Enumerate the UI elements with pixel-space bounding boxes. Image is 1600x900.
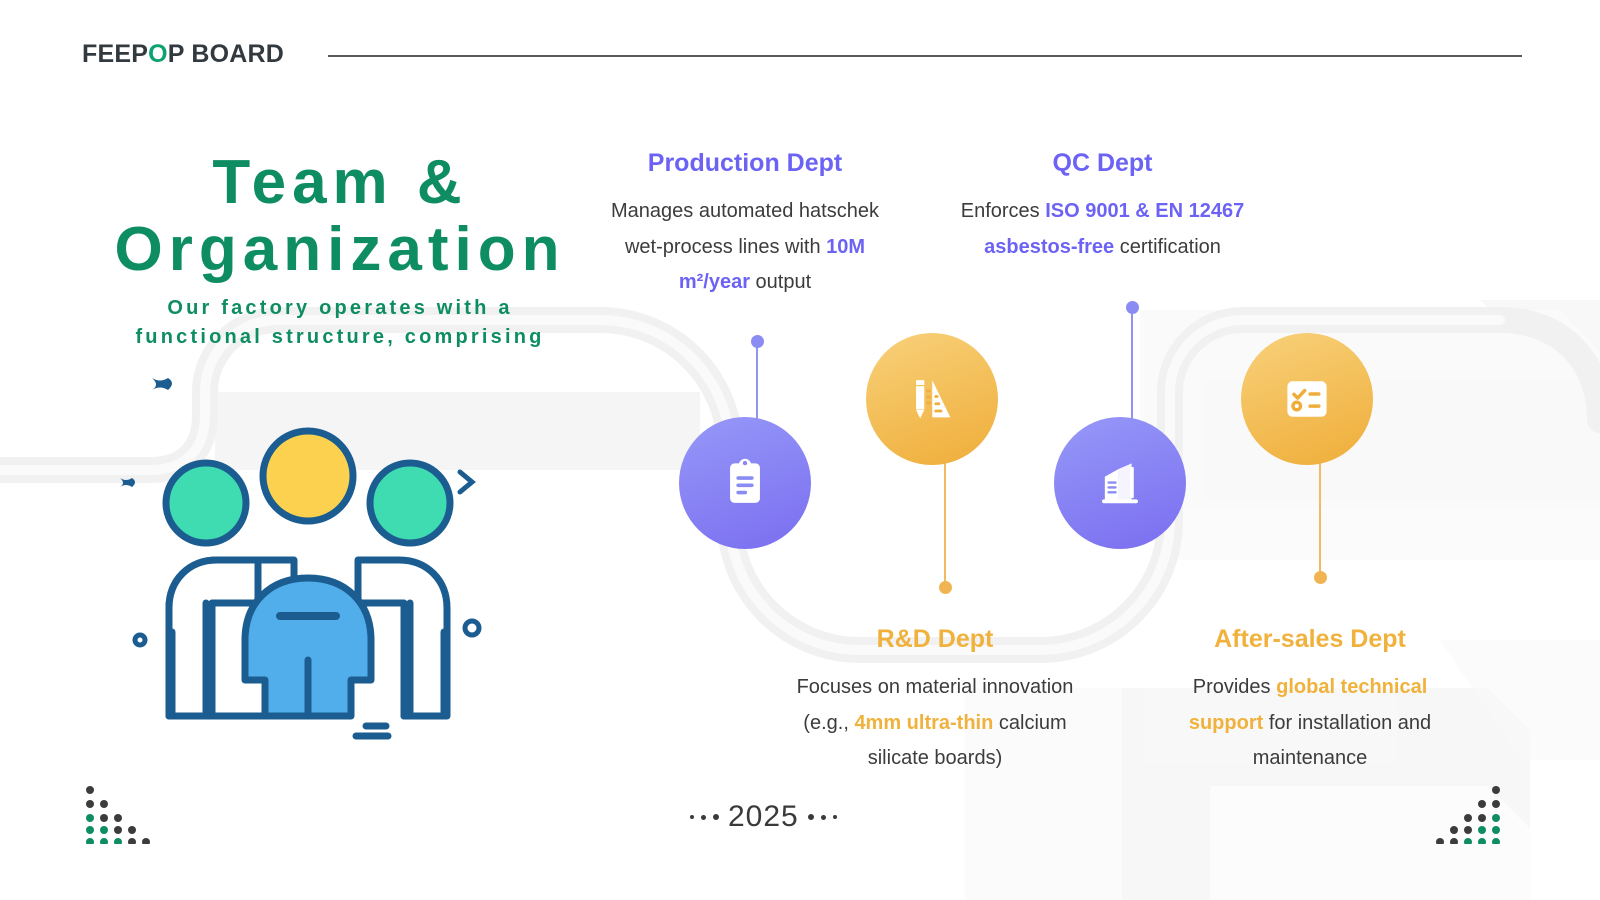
logo-text-part2: P BOARD [168, 40, 284, 68]
header-divider-rule [328, 55, 1522, 57]
dept-title-rnd: R&D Dept [790, 624, 1080, 654]
page-title: Team & Organization [60, 150, 620, 284]
node-circle-production[interactable] [679, 417, 811, 549]
dept-block-production: Production Dept Manages automated hatsch… [600, 148, 890, 301]
page-subtitle-line1: Our factory operates with a [60, 294, 620, 323]
page-subtitle: Our factory operates with a functional s… [60, 294, 620, 352]
dept-body-text-tail: certification [1114, 236, 1221, 258]
clipboard-icon [717, 455, 773, 511]
dept-body-production: Manages automated hatschek wet-process l… [600, 194, 890, 301]
connector-dot-aftersales [1314, 571, 1327, 584]
dept-body-qc: Enforces ISO 9001 & EN 12467 asbestos-fr… [955, 194, 1250, 265]
dept-block-qc: QC Dept Enforces ISO 9001 & EN 12467 asb… [955, 148, 1250, 265]
year-marker: 2025 [690, 800, 837, 834]
dept-body-text: Provides [1193, 676, 1276, 698]
page-title-line1: Team & [60, 150, 620, 217]
team-illustration [108, 360, 508, 750]
connector-dot-rnd [939, 581, 952, 594]
dept-block-rnd: R&D Dept Focuses on material innovation … [790, 624, 1080, 777]
slide-canvas: FEEPOP BOARD Team & Organization Our fac… [0, 0, 1600, 900]
connector-dot-production [751, 335, 764, 348]
dept-title-aftersales: After-sales Dept [1165, 624, 1455, 654]
pencil-ruler-icon [903, 370, 961, 428]
logo-text-o: O [148, 40, 168, 68]
dept-body-highlight: 4mm ultra-thin [854, 712, 993, 734]
dept-title-production: Production Dept [600, 148, 890, 178]
checklist-icon [1279, 371, 1335, 427]
page-title-line2: Organization [60, 217, 620, 284]
dept-body-text: Enforces [961, 200, 1045, 222]
dept-body-text-tail: output [750, 271, 811, 293]
logo-text-part1: FEEP [82, 40, 148, 68]
node-circle-aftersales[interactable] [1241, 333, 1373, 465]
connector-stem-aftersales [1319, 458, 1321, 578]
connector-stem-rnd [944, 458, 946, 588]
page-subtitle-line2: functional structure, comprising [60, 323, 620, 352]
year-dots-right [808, 814, 837, 820]
dept-body-rnd: Focuses on material innovation (e.g., 4m… [790, 670, 1080, 777]
decorative-dots-left [78, 782, 158, 844]
dept-body-aftersales: Provides global technical support for in… [1165, 670, 1455, 777]
slide-header: FEEPOP BOARD [82, 40, 1522, 69]
factory-icon [1092, 455, 1148, 511]
dept-title-qc: QC Dept [955, 148, 1250, 178]
title-block: Team & Organization Our factory operates… [60, 150, 620, 352]
year-dots-left [690, 814, 719, 820]
dept-block-aftersales: After-sales Dept Provides global technic… [1165, 624, 1455, 777]
node-circle-qc[interactable] [1054, 417, 1186, 549]
brand-logo: FEEPOP BOARD [82, 40, 284, 69]
year-label: 2025 [728, 800, 799, 834]
connector-dot-qc [1126, 301, 1139, 314]
dept-body-text-tail: for installation and maintenance [1253, 712, 1431, 770]
node-circle-rnd[interactable] [866, 333, 998, 465]
decorative-dots-right [1428, 782, 1508, 844]
